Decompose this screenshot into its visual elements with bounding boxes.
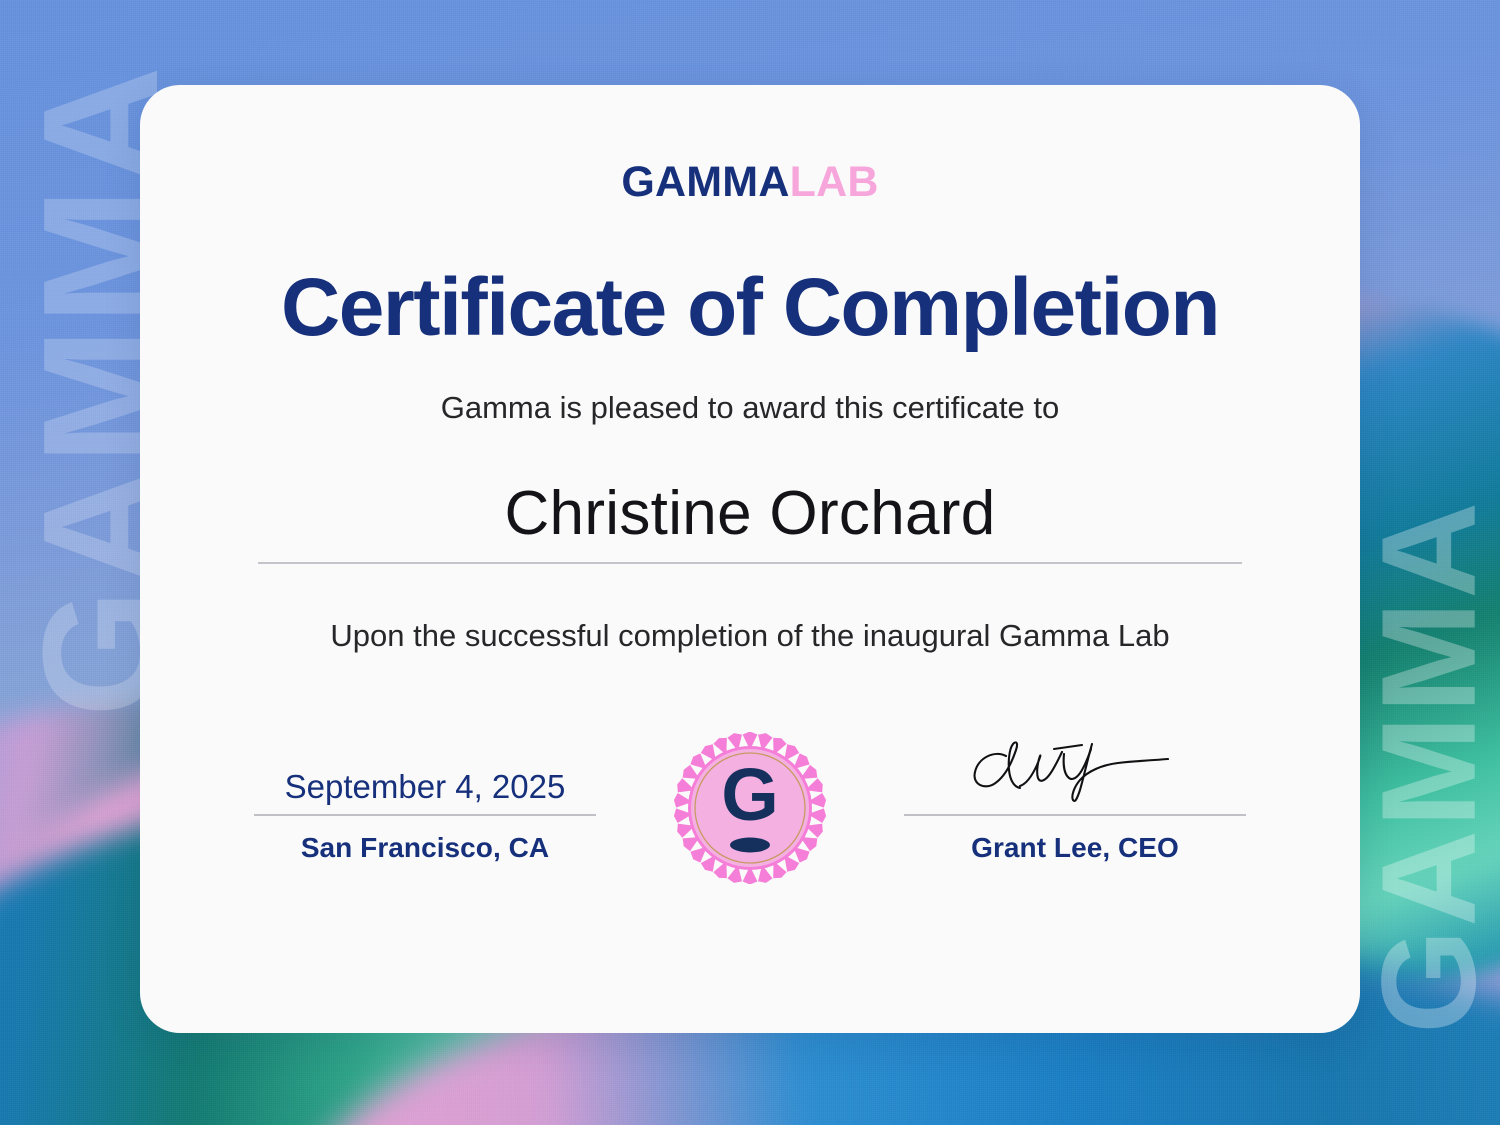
recipient-block: Christine Orchard — [258, 480, 1242, 564]
watermark-gamma-right: GAMMA — [1352, 499, 1500, 1033]
recipient-name: Christine Orchard — [258, 480, 1242, 562]
seal-badge-icon: G — [674, 732, 826, 884]
completion-statement: Upon the successful completion of the in… — [330, 618, 1169, 654]
signature-block: Grant Lee, CEO — [904, 730, 1246, 864]
award-intro-text: Gamma is pleased to award this certifica… — [441, 390, 1060, 426]
brand-logo: GAMMALAB — [621, 161, 878, 204]
certificate-card: GAMMALAB Certificate of Completion Gamma… — [140, 85, 1360, 1033]
page-title: Certificate of Completion — [281, 266, 1219, 350]
logo-gamma-text: GAMMA — [621, 161, 789, 204]
issue-date: September 4, 2025 — [285, 770, 566, 808]
certificate-seal: G — [660, 730, 840, 884]
certificate-page: GAMMA GAMMA GAMMALAB Certificate of Comp… — [0, 0, 1500, 1125]
date-location-block: September 4, 2025 San Francisco, CA — [254, 730, 596, 864]
issue-location: San Francisco, CA — [301, 832, 549, 864]
signature-divider — [904, 814, 1246, 816]
date-divider — [254, 814, 596, 816]
certificate-footer: September 4, 2025 San Francisco, CA — [254, 730, 1246, 884]
date-slot: September 4, 2025 — [254, 730, 596, 808]
svg-text:G: G — [721, 753, 779, 836]
signature-icon — [960, 732, 1190, 808]
signatory-name: Grant Lee, CEO — [971, 832, 1179, 864]
signature-slot — [904, 730, 1246, 808]
logo-lab-text: LAB — [790, 161, 879, 204]
recipient-divider — [258, 562, 1242, 564]
